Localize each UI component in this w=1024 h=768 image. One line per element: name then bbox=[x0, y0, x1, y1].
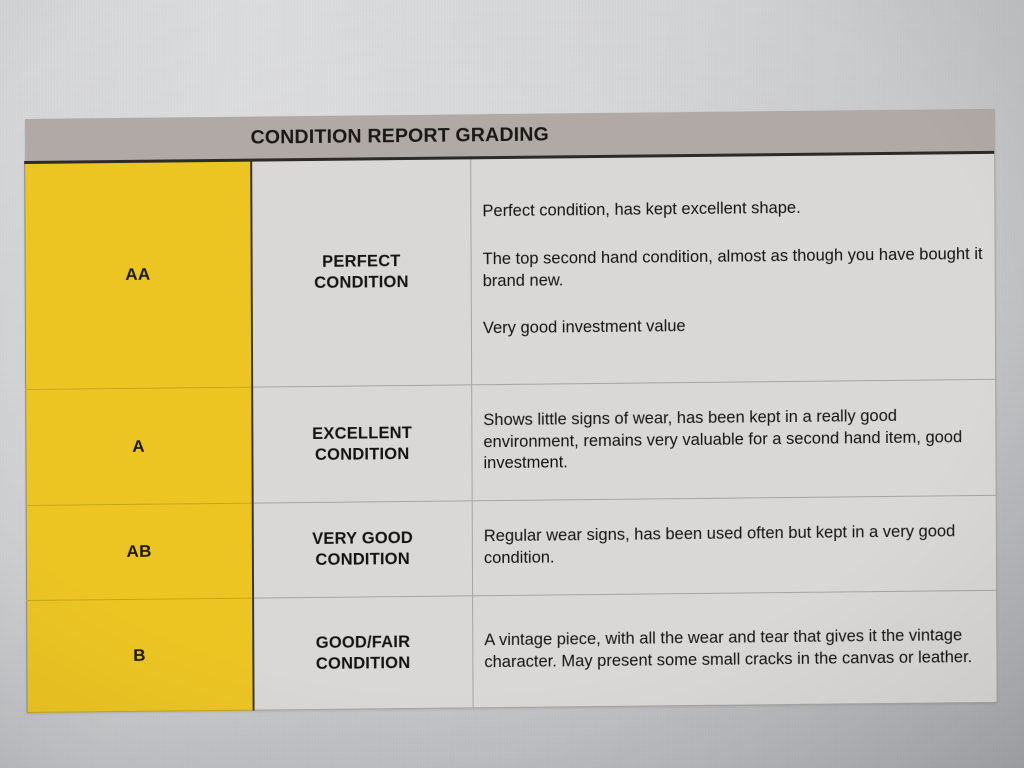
condition-label-line2: CONDITION bbox=[258, 652, 469, 675]
header-spacer-cell bbox=[24, 117, 250, 162]
description-paragraph: Regular wear signs, has been used often … bbox=[484, 521, 984, 570]
description-paragraph: Perfect condition, has kept excellent sh… bbox=[482, 196, 982, 223]
condition-label-line1: EXCELLENT bbox=[257, 422, 468, 445]
description-a: Shows little signs of wear, has been kep… bbox=[472, 379, 997, 500]
table-row: AA PERFECT CONDITION Perfect condition, … bbox=[25, 151, 996, 389]
condition-label-line2: CONDITION bbox=[256, 271, 467, 294]
condition-label-aa: PERFECT CONDITION bbox=[251, 157, 472, 387]
grade-code-aa: AA bbox=[25, 159, 252, 389]
condition-label-ab: VERY GOOD CONDITION bbox=[252, 501, 472, 598]
table-row: AB VERY GOOD CONDITION Regular wear sign… bbox=[26, 495, 996, 600]
description-paragraph: Shows little signs of wear, has been kep… bbox=[483, 405, 983, 476]
description-paragraph: The top second hand condition, almost as… bbox=[483, 244, 983, 293]
grade-code-ab: AB bbox=[26, 503, 252, 600]
grading-table-container: CONDITION REPORT GRADING AA PERFECT COND… bbox=[24, 109, 996, 639]
description-ab: Regular wear signs, has been used often … bbox=[472, 495, 996, 595]
condition-label-a: EXCELLENT CONDITION bbox=[252, 385, 472, 503]
grade-code-b: B bbox=[27, 598, 253, 712]
condition-label-b: GOOD/FAIR CONDITION bbox=[253, 596, 473, 710]
table-row: B GOOD/FAIR CONDITION A vintage piece, w… bbox=[27, 590, 997, 712]
description-paragraph: Very good investment value bbox=[483, 313, 983, 340]
condition-report-grading-table: CONDITION REPORT GRADING AA PERFECT COND… bbox=[24, 109, 998, 713]
condition-label-line1: VERY GOOD bbox=[257, 528, 468, 551]
condition-label-line2: CONDITION bbox=[257, 548, 468, 571]
description-b: A vintage piece, with all the wear and t… bbox=[473, 590, 997, 707]
condition-label-line1: PERFECT bbox=[256, 250, 467, 273]
description-aa: Perfect condition, has kept excellent sh… bbox=[471, 151, 996, 384]
grade-code-a: A bbox=[26, 387, 252, 505]
table-row: A EXCELLENT CONDITION Shows little signs… bbox=[26, 379, 996, 505]
photographed-document: CONDITION REPORT GRADING AA PERFECT COND… bbox=[0, 0, 1024, 768]
description-paragraph: A vintage piece, with all the wear and t… bbox=[484, 625, 984, 674]
condition-label-line1: GOOD/FAIR bbox=[258, 631, 469, 654]
condition-label-line2: CONDITION bbox=[257, 443, 468, 466]
